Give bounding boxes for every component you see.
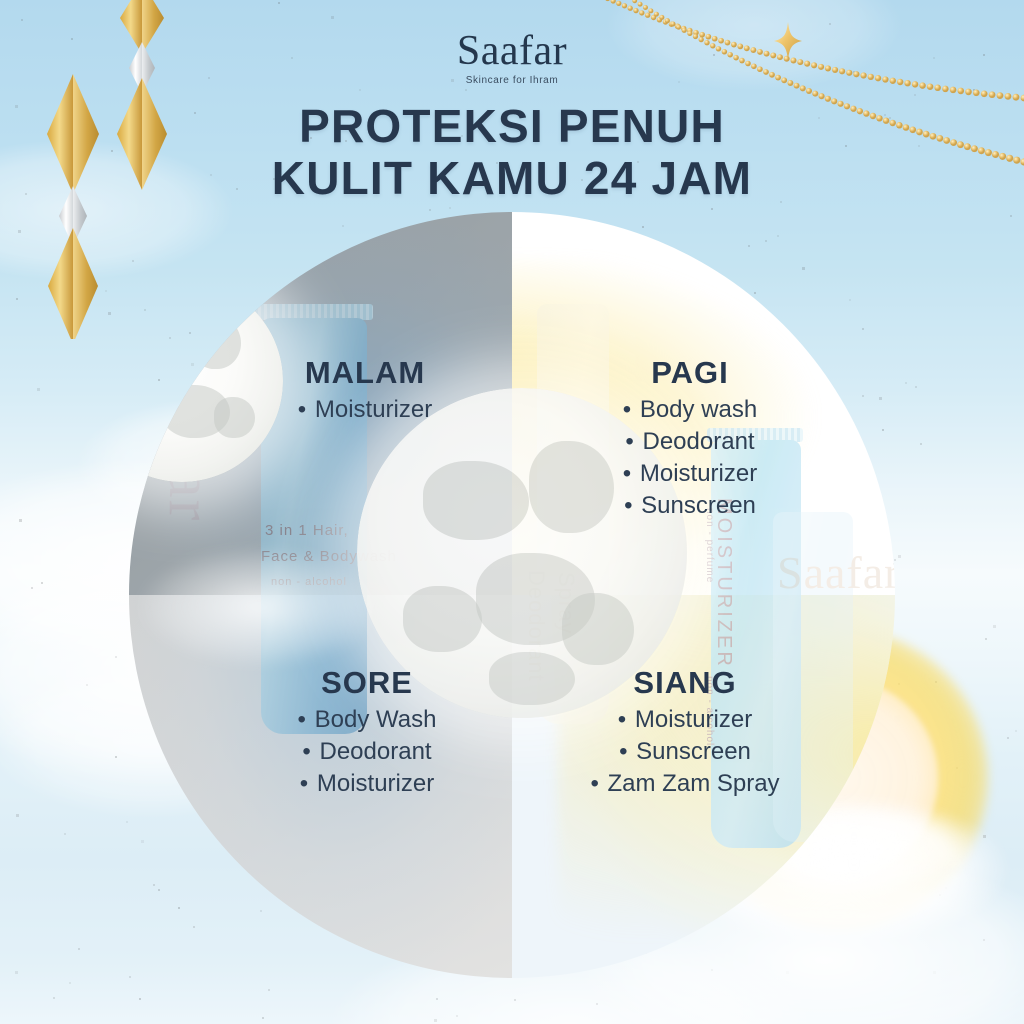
page-title: PROTEKSI PENUH KULIT KAMU 24 JAM	[0, 101, 1024, 205]
chain-bead	[676, 25, 681, 30]
routine-item-label: Body wash	[640, 396, 757, 423]
brand-tagline: Skincare for Ihram	[0, 75, 1024, 86]
chain-bead	[633, 8, 638, 13]
chain-bead	[1005, 93, 1012, 100]
routine-item: • Zam Zam Spray	[530, 768, 840, 800]
chain-bead	[942, 86, 949, 93]
routine-item: • Moisturizer	[530, 704, 840, 736]
gold-diamond-ornament-icon	[48, 228, 73, 339]
chain-bead	[643, 5, 648, 10]
quadrant-title-pagi: PAGI	[545, 356, 835, 390]
brand-logo: Saafar Skincare for Ihram	[0, 30, 1024, 86]
chain-bead	[950, 87, 957, 94]
quadrant-title-siang: SIANG	[530, 666, 840, 700]
chain-bead	[648, 8, 653, 13]
chain-bead	[645, 13, 650, 18]
headline-line-2: KULIT KAMU 24 JAM	[0, 153, 1024, 205]
chain-bead	[632, 0, 637, 3]
quadrant-items-malam: • Moisturizer	[225, 394, 505, 426]
routine-item: • Body Wash	[222, 704, 512, 736]
chain-bead	[665, 18, 670, 23]
chain-bead	[989, 91, 996, 98]
gold-diamond-ornament-icon	[73, 228, 98, 339]
chain-bead	[958, 88, 965, 95]
bullet-icon: •	[298, 396, 313, 423]
bullet-icon: •	[300, 770, 315, 797]
bullet-icon: •	[618, 706, 633, 733]
chain-bead	[611, 0, 616, 4]
bullet-icon: •	[624, 492, 639, 519]
routine-item-label: Moisturizer	[640, 460, 757, 487]
chain-bead	[981, 90, 988, 97]
quadrant-items-sore: • Body Wash• Deodorant• Moisturizer	[222, 704, 512, 800]
quadrant-items-pagi: • Body wash• Deodorant• Moisturizer• Sun…	[545, 394, 835, 522]
bullet-icon: •	[623, 460, 638, 487]
chain-bead	[819, 93, 825, 99]
routine-item-label: Sunscreen	[636, 738, 751, 765]
routine-item: • Deodorant	[545, 426, 835, 458]
chain-bead	[806, 88, 812, 94]
routine-item: • Moisturizer	[222, 768, 512, 800]
chain-bead	[605, 0, 610, 1]
chain-bead	[654, 12, 659, 17]
bullet-icon: •	[302, 738, 317, 765]
routine-item: • Body wash	[545, 394, 835, 426]
routine-item-label: Zam Zam Spray	[608, 770, 780, 797]
quadrant-text-malam: MALAM • Moisturizer	[225, 356, 505, 426]
routine-item: • Deodorant	[222, 736, 512, 768]
routine-item: • Sunscreen	[545, 490, 835, 522]
chain-bead	[800, 85, 806, 91]
routine-item: • Moisturizer	[545, 458, 835, 490]
routine-item-label: Deodorant	[320, 738, 432, 765]
bullet-icon: •	[619, 738, 634, 765]
quadrant-text-pagi: PAGI • Body wash• Deodorant• Moisturizer…	[545, 356, 835, 522]
routine-item-label: Moisturizer	[315, 396, 432, 423]
chain-bead	[965, 89, 972, 96]
routine-item-label: Moisturizer	[635, 706, 752, 733]
quadrant-title-malam: MALAM	[225, 356, 505, 390]
bullet-icon: •	[590, 770, 605, 797]
chain-bead	[622, 3, 627, 8]
bullet-icon: •	[623, 396, 638, 423]
chain-bead	[1013, 94, 1020, 101]
routine-item: • Moisturizer	[225, 394, 505, 426]
chain-bead	[670, 21, 675, 26]
chain-bead	[997, 92, 1004, 99]
chain-bead	[812, 91, 818, 97]
quadrant-text-sore: SORE • Body Wash• Deodorant• Moisturizer	[222, 666, 512, 800]
quadrant-title-sore: SORE	[222, 666, 512, 700]
routine-item-label: Moisturizer	[317, 770, 434, 797]
routine-item-label: Deodorant	[643, 428, 755, 455]
chain-bead	[659, 15, 664, 20]
headline-line-1: PROTEKSI PENUH	[0, 101, 1024, 153]
routine-item-label: Sunscreen	[641, 492, 756, 519]
routine-wheel: 3 in 1 Hair, Face & Bodywash non - alcoh…	[129, 212, 895, 978]
brand-name: Saafar	[0, 30, 1024, 72]
chain-bead	[638, 2, 643, 7]
quadrant-items-siang: • Moisturizer• Sunscreen• Zam Zam Spray	[530, 704, 840, 800]
chain-bead	[616, 1, 621, 6]
routine-item-label: Body Wash	[315, 706, 437, 733]
routine-item: • Sunscreen	[530, 736, 840, 768]
chain-bead	[639, 10, 644, 15]
chain-bead	[973, 89, 980, 96]
chain-bead	[628, 6, 633, 11]
quadrant-text-siang: SIANG • Moisturizer• Sunscreen• Zam Zam …	[530, 666, 840, 800]
bullet-icon: •	[625, 428, 640, 455]
bullet-icon: •	[298, 706, 313, 733]
